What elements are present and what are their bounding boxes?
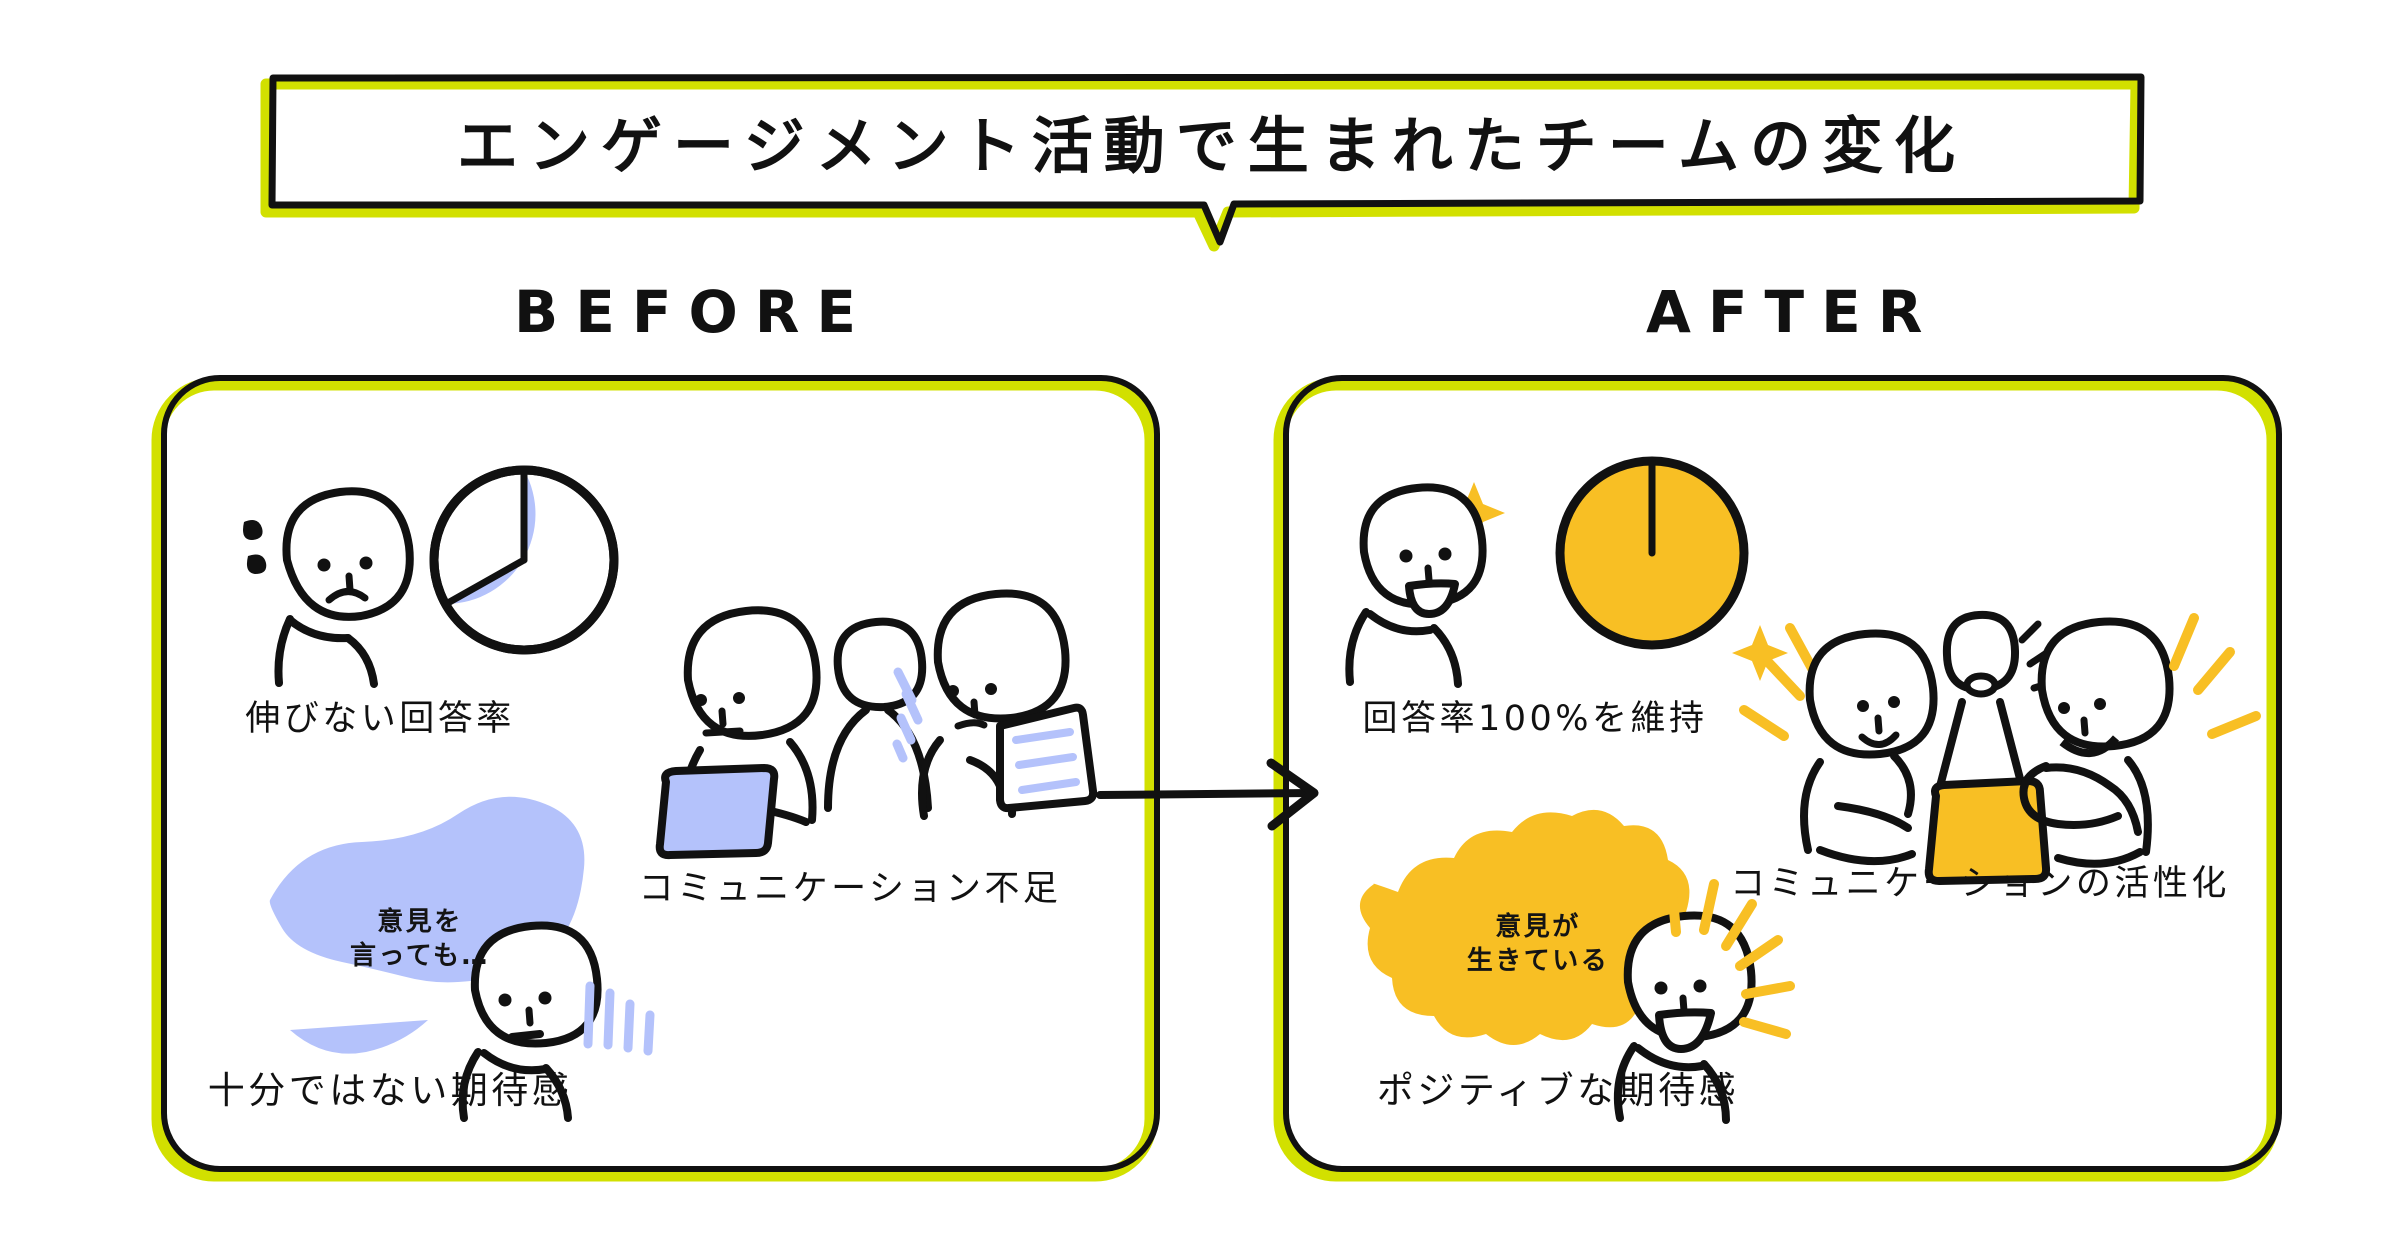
- after-speech-bubble-text: 意見が 生きている: [1438, 910, 1638, 979]
- before-column-header: BEFORE: [497, 278, 873, 346]
- infographic-canvas: エンゲージメント活動で生まれたチームの変化 BEFORE AFTER 伸びない回…: [0, 0, 2400, 1260]
- three-people-talking-icon: [1744, 615, 2256, 881]
- before-expectation-caption: 十分ではない期待感: [150, 1060, 630, 1114]
- before-communication-caption: コミュニケーション不足: [600, 860, 1100, 911]
- page-title: エンゲージメント活動で生まれたチームの変化: [272, 78, 2140, 203]
- after-expectation-caption: ポジティブな期待感: [1318, 1060, 1798, 1114]
- before-response-rate-caption: 伸びない回答率: [170, 690, 590, 741]
- smiling-person-with-full-pie-chart-icon: [1349, 461, 1788, 684]
- after-communication-caption: コミュニケーションの活性化: [1710, 855, 2250, 906]
- after-response-rate-caption: 回答率100%を維持: [1325, 690, 1745, 741]
- after-column-header: AFTER: [1629, 278, 1939, 346]
- before-speech-bubble-text: 意見を 言っても…: [320, 905, 520, 974]
